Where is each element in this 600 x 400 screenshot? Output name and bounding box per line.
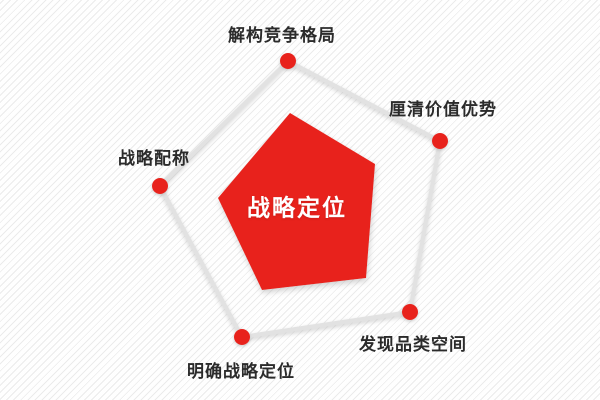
node-dot-right-top[interactable] (432, 133, 448, 149)
node-label-right-top: 厘清价值优势 (389, 101, 497, 118)
node-label-top: 解构竞争格局 (228, 27, 336, 44)
node-dot-bottom[interactable] (234, 329, 250, 345)
node-dot-right-bottom[interactable] (402, 304, 418, 320)
center-label: 战略定位 (247, 197, 347, 220)
node-dot-left[interactable] (152, 178, 168, 194)
node-label-right-bottom: 发现品类空间 (359, 336, 467, 353)
node-dot-top[interactable] (280, 53, 296, 69)
node-label-left: 战略配称 (118, 150, 190, 167)
diagram-canvas: 解构竞争格局 厘清价值优势 发现品类空间 明确战略定位 战略配称 战略定位 (0, 0, 600, 400)
node-label-bottom: 明确战略定位 (187, 363, 295, 380)
